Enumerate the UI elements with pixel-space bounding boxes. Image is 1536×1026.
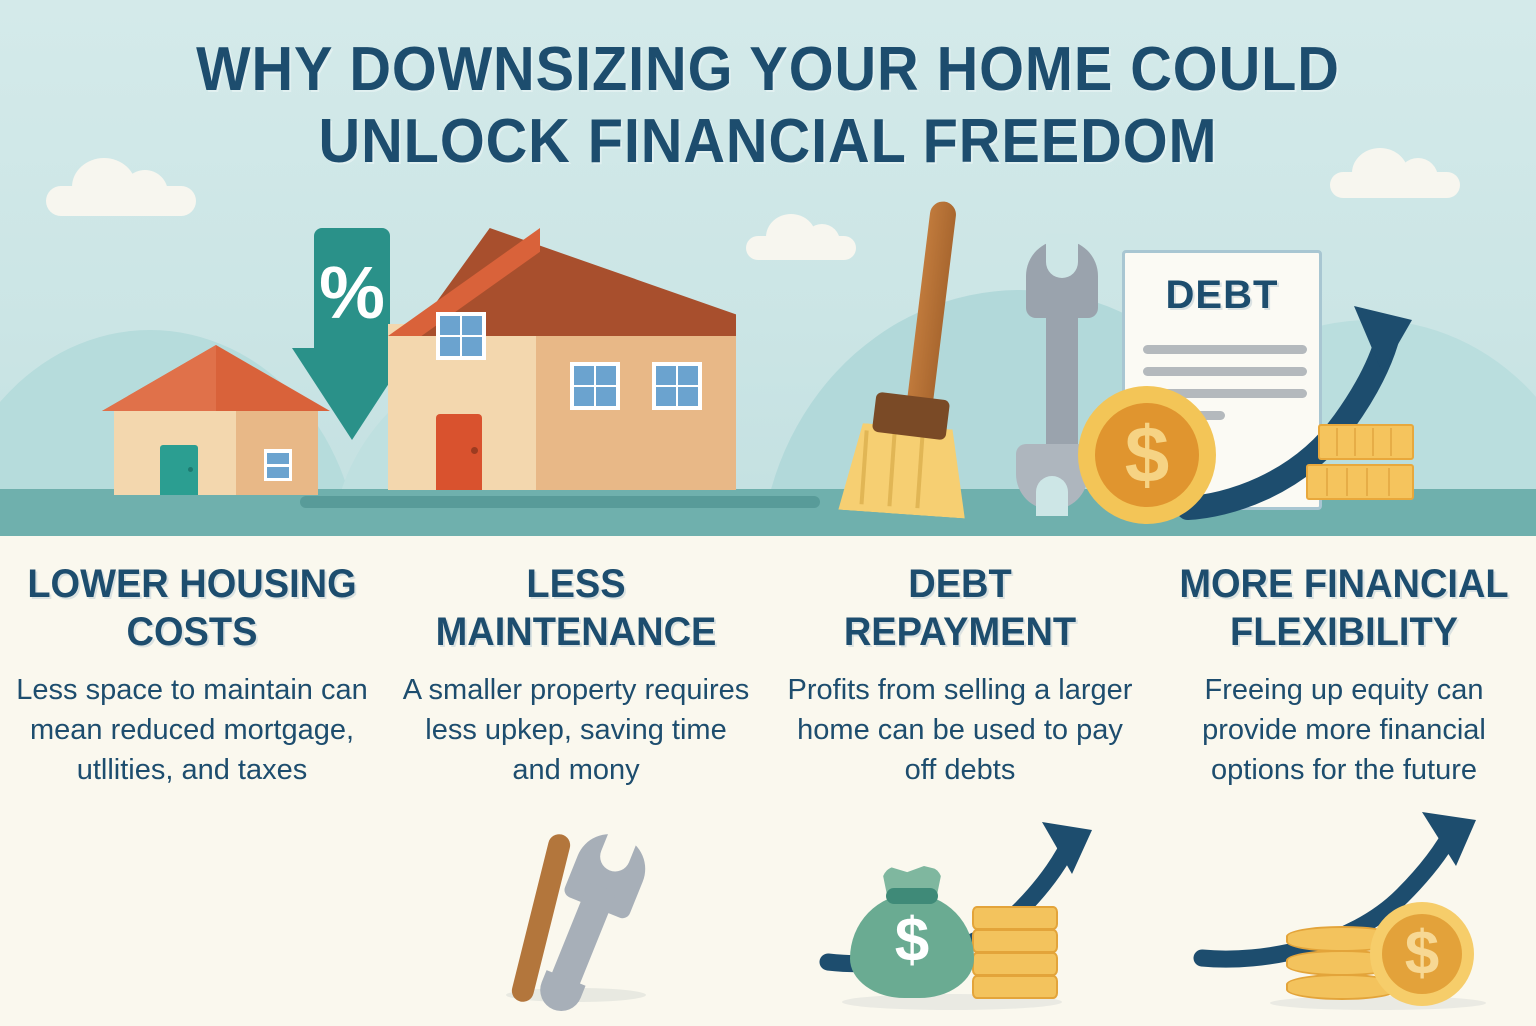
benefits-columns: LOWER HOUSING COSTS Less space to mainta… [0,536,1536,1024]
benefit-body: Profits from selling a larger home can b… [782,670,1138,790]
benefit-body: A smaller property requires less upkep, … [398,670,754,790]
benefit-column-more-financial-flexibility: MORE FINANCIAL FLEXIBILITY Freeing up eq… [1152,536,1536,1024]
benefit-artwork: $ [1152,824,1536,1024]
small-house-window [264,449,292,481]
title-line-2: UNLOCK FINANCIAL FREEDOM [54,106,1482,178]
benefit-body: Freeing up equity can provide more finan… [1166,670,1522,790]
large-house-icon [388,228,736,490]
coin-stack-icon [972,906,1058,998]
large-house-window [436,312,486,360]
benefit-artwork [384,824,768,1024]
coins-and-growth-arrow-icon: $ [1194,820,1494,1010]
money-bag-and-coins-icon: $ [820,822,1100,1012]
benefit-heading: MORE FINANCIAL FLEXIBILITY [1175,560,1513,656]
large-house-window [570,362,620,410]
dollar-symbol: $ [850,910,974,972]
money-bag-icon: $ [850,866,974,998]
infographic-poster: % [0,0,1536,1024]
benefit-column-debt-repayment: DEBT REPAYMENT Profits from selling a la… [768,536,1152,1024]
page-title: WHY DOWNSIZING YOUR HOME COULD UNLOCK FI… [54,34,1482,178]
large-house-window [652,362,702,410]
benefit-column-less-maintenance: LESS MAINTENANCE A smaller property requ… [384,536,768,1024]
benefit-column-lower-housing-costs: LOWER HOUSING COSTS Less space to mainta… [0,536,384,1024]
benefit-heading: LOWER HOUSING COSTS [23,560,361,656]
benefit-body: Less space to maintain can mean reduced … [14,670,370,790]
title-line-1: WHY DOWNSIZING YOUR HOME COULD [54,34,1482,106]
benefit-heading: LESS MAINTENANCE [407,560,745,656]
cloud-icon [46,186,196,216]
benefit-artwork: $ [768,824,1152,1024]
coin-stack-icon [1306,424,1416,504]
benefit-heading: DEBT REPAYMENT [791,560,1129,656]
dollar-coin-icon: $ [1370,902,1474,1006]
dollar-symbol: $ [1370,914,1474,994]
wrench-and-handle-icon [484,824,668,1010]
broom-icon [820,200,980,500]
dollar-symbol: $ [1078,404,1216,506]
dollar-coin-icon: $ [1078,386,1216,524]
ground-shadow [300,496,820,508]
